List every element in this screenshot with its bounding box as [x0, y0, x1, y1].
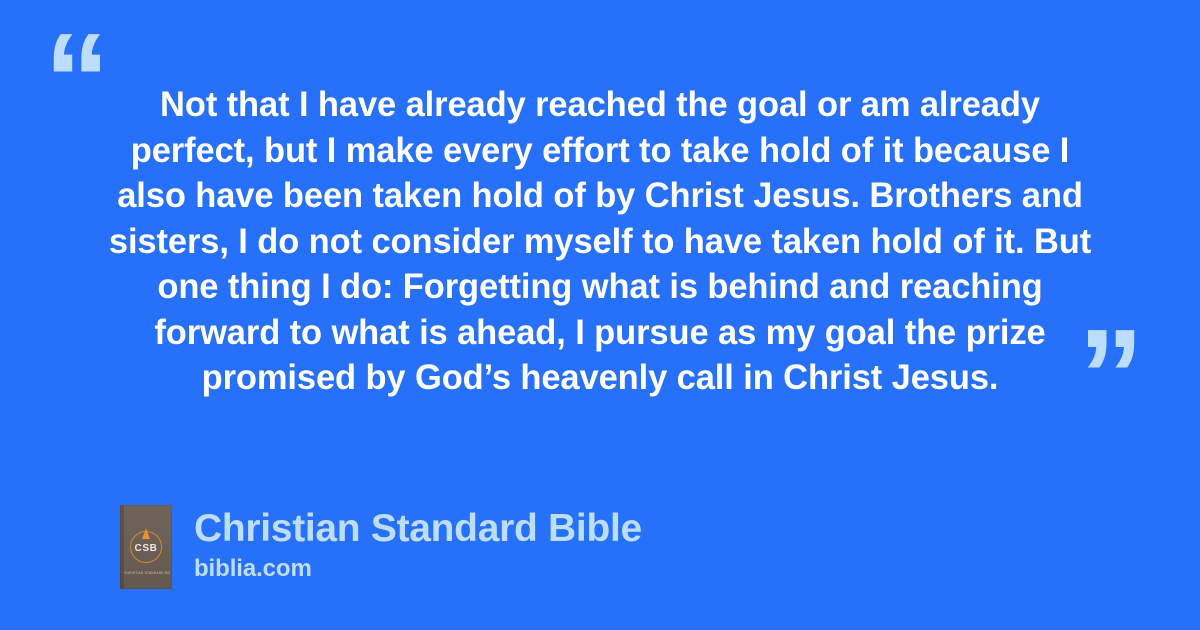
cover-subtitle: CHRISTIAN STANDARD BIBLE — [124, 571, 170, 575]
quote-card: “ Not that I have already reached the go… — [0, 0, 1200, 630]
book-cover-thumbnail: CSB CHRISTIAN STANDARD BIBLE — [120, 505, 172, 589]
quote-area: “ Not that I have already reached the go… — [0, 0, 1200, 440]
book-spine — [120, 505, 124, 589]
source-site-link[interactable]: biblia.com — [194, 556, 642, 582]
quote-text: Not that I have already reached the goal… — [108, 82, 1093, 401]
attribution-text-block: Christian Standard Bible biblia.com — [194, 505, 642, 582]
closing-quote-icon: ” — [1078, 310, 1144, 442]
csb-emblem-icon: CSB — [128, 529, 164, 565]
emblem-label: CSB — [128, 543, 164, 555]
opening-quote-icon: “ — [44, 14, 110, 146]
attribution-footer: CSB CHRISTIAN STANDARD BIBLE Christian S… — [120, 505, 642, 589]
source-title: Christian Standard Bible — [194, 508, 642, 550]
emblem-flame-icon — [142, 528, 150, 539]
